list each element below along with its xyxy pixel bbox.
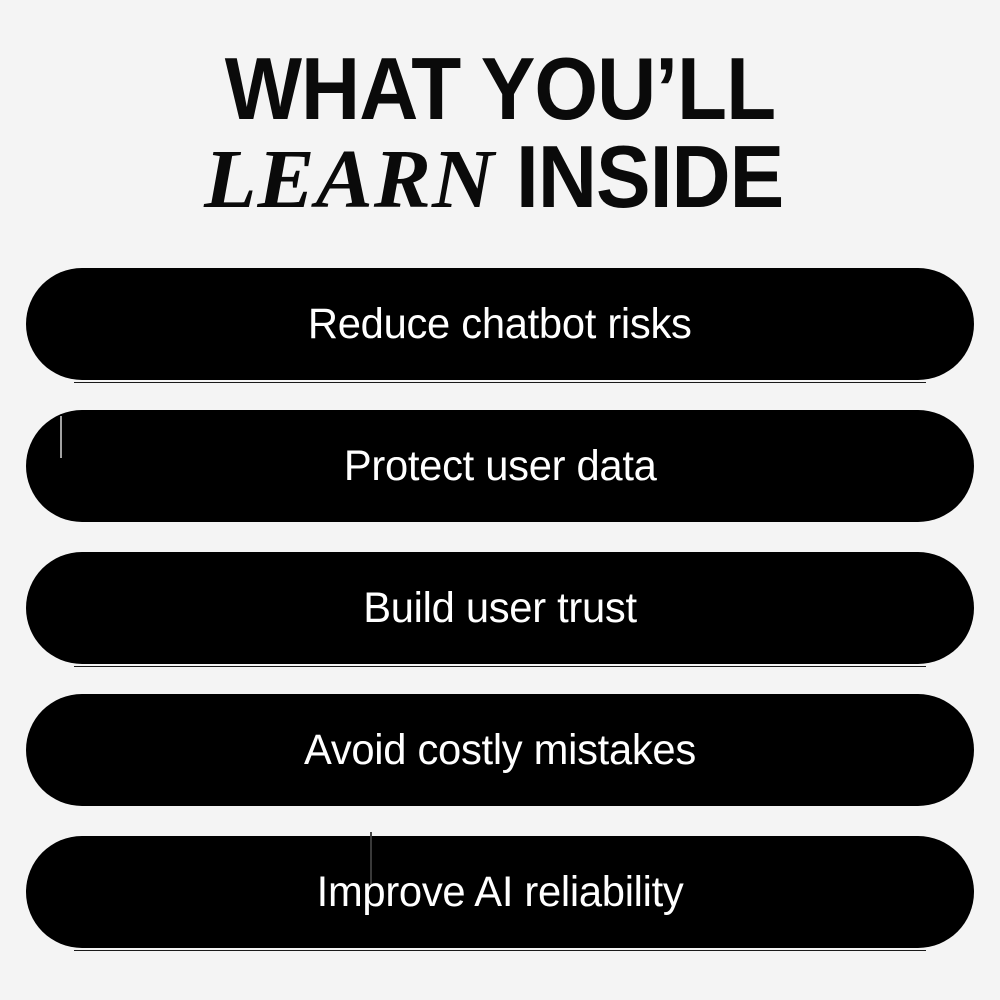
- benefit-label-1: Reduce chatbot risks: [308, 300, 692, 349]
- text-caret-icon: [370, 832, 372, 884]
- benefits-list: Reduce chatbot risks Protect user data B…: [26, 268, 974, 948]
- benefit-label-3: Build user trust: [363, 584, 637, 633]
- title-line-1-text: WHAT YOU’LL: [225, 46, 775, 132]
- poster-canvas: WHAT YOU’LL LEARNINSIDE Reduce chatbot r…: [0, 0, 1000, 1000]
- list-item-benefit-3[interactable]: Build user trust: [26, 552, 974, 664]
- title-line-1: WHAT YOU’LL: [0, 46, 1000, 132]
- list-item-benefit-1[interactable]: Reduce chatbot risks: [26, 268, 974, 380]
- list-item-benefit-5[interactable]: Improve AI reliability: [26, 836, 974, 948]
- benefit-label-4: Avoid costly mistakes: [304, 726, 696, 775]
- title-emphasis-learn: LEARN: [204, 139, 495, 221]
- benefit-label-2: Protect user data: [344, 442, 657, 491]
- title-line-2-text: INSIDE: [516, 134, 783, 220]
- title-line-2: LEARNINSIDE: [0, 134, 1000, 221]
- list-item-benefit-2[interactable]: Protect user data: [26, 410, 974, 522]
- text-caret-icon: [60, 416, 62, 458]
- page-title: WHAT YOU’LL LEARNINSIDE: [0, 46, 1000, 222]
- list-item-benefit-4[interactable]: Avoid costly mistakes: [26, 694, 974, 806]
